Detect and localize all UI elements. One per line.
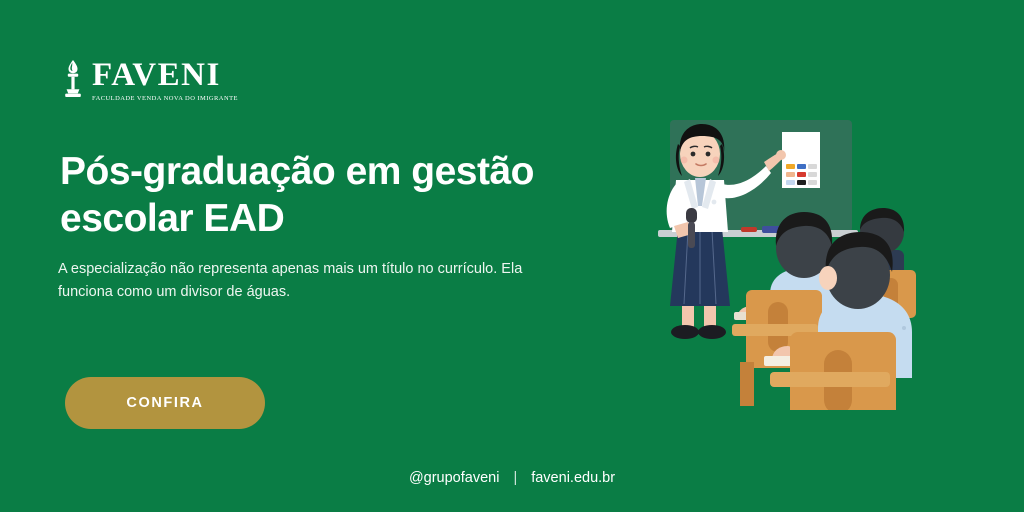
logo-subtitle: FACULDADE VENDA NOVA DO IMIGRANTE — [92, 94, 238, 103]
footer: @grupofaveni | faveni.edu.br — [0, 470, 1024, 486]
red-chalk-icon — [741, 227, 757, 232]
hero-subtext: A especialização não representa apenas m… — [58, 258, 558, 304]
logo-wordmark: FAVENI — [92, 58, 221, 92]
color-swatch-poster — [782, 132, 820, 188]
confira-button[interactable]: CONFIRA — [65, 377, 265, 429]
social-handle[interactable]: @grupofaveni — [409, 470, 500, 486]
page-title: Pós-graduação em gestão escolar EAD — [60, 148, 590, 242]
promo-banner: FAVENI FACULDADE VENDA NOVA DO IMIGRANTE… — [0, 0, 1024, 512]
footer-separator: | — [513, 470, 517, 486]
classroom-lecture-illustration — [640, 110, 940, 410]
faveni-logo[interactable]: FAVENI FACULDADE VENDA NOVA DO IMIGRANTE — [60, 58, 238, 103]
torch-icon — [60, 58, 86, 100]
microphone-icon — [686, 208, 697, 223]
website-link[interactable]: faveni.edu.br — [531, 470, 615, 486]
